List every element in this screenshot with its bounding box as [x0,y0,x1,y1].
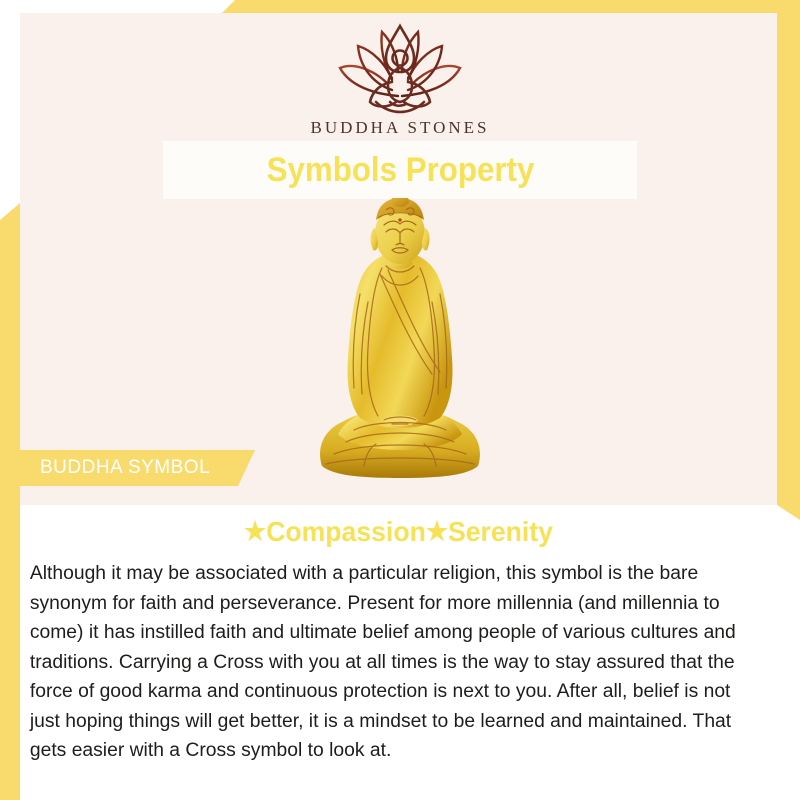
ribbon-label: BUDDHA SYMBOL [40,457,210,479]
lotus-meditation-icon [336,22,464,116]
subheading-term-serenity: Serenity [448,516,553,547]
buddha-symbol-ribbon: BUDDHA SYMBOL [20,450,255,486]
title-panel: Symbols Property [163,141,637,199]
page-title: Symbols Property [266,151,534,190]
content-section: ★Compassion★Serenity Although it may be … [20,505,777,790]
poster-root: BUDDHA STONES Symbols Property [0,0,800,800]
brand-logo-block: BUDDHA STONES [0,22,800,138]
star-icon: ★ [426,516,448,546]
subheading: ★Compassion★Serenity [39,505,758,548]
hero-image-wrap [0,198,800,480]
body-paragraph: Although it may be associated with a par… [20,548,766,766]
star-icon: ★ [244,516,266,546]
brand-wordmark: BUDDHA STONES [0,118,800,138]
golden-seated-buddha-statue-icon [308,198,492,480]
subheading-term-compassion: Compassion [266,516,426,547]
